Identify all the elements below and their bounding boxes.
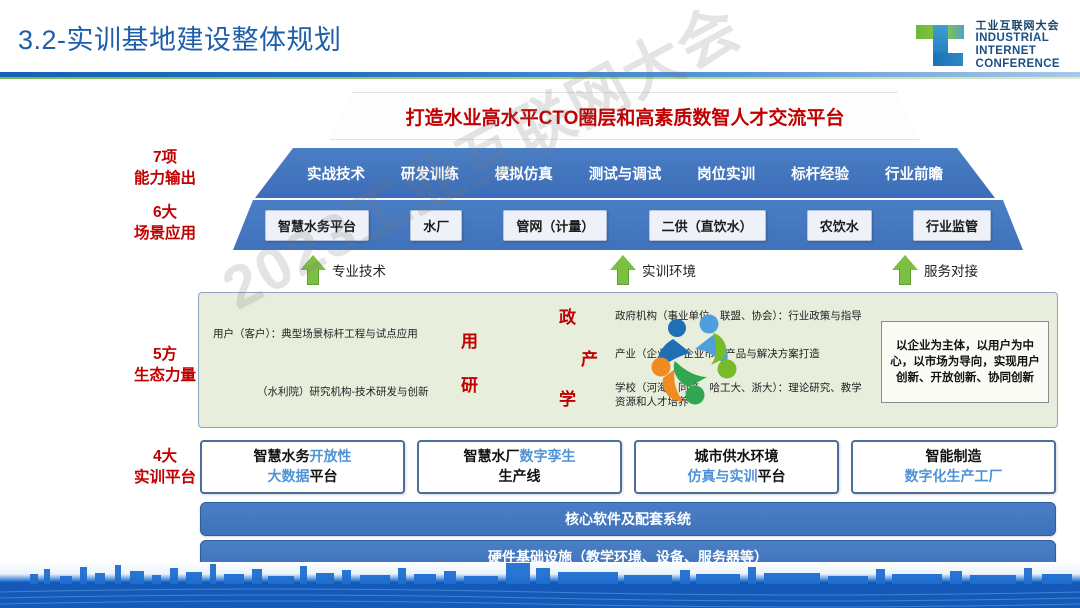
tier-label-6: 6大 场景应用 [95,203,235,245]
capabilities-tier: 实战技术 研发训练 模拟仿真 测试与调试 岗位实训 标杆经验 行业前瞻 [255,148,995,198]
footer-skyline [0,562,1080,608]
skyline-graphic [0,562,1080,608]
conference-logo: 工业互联网大会 INDUSTRIAL INTERNET CONFERENCE [914,20,1060,71]
platform-3-hl1: 仿真与实训 [688,468,758,484]
platform-text-4: 智能制造 数字化生产工厂 [905,447,1003,486]
capability-item: 标杆经验 [791,163,849,184]
platform-1-hl1: 开放性 [310,448,352,464]
tier-label-7-line1: 7项 [95,148,235,169]
eco-text-user: 用户（客户）：典型场景标杆工程与试点应用 [213,327,418,342]
capability-item: 研发训练 [401,163,459,184]
ecosystem-panel: 用户（客户）：典型场景标杆工程与试点应用 （水利院）研究机构-技术研发与创新 政… [198,292,1058,428]
logo-mark-icon [914,21,966,69]
scenario-chip[interactable]: 二供（直饮水） [649,210,766,241]
tier-label-6-line2: 场景应用 [95,224,235,245]
arrow-up-icon [610,255,636,285]
eco-key-chan: 产 [581,345,598,370]
arrow-row: 专业技术 实训环境 服务对接 [0,253,1080,289]
slide-root: 3.2-实训基地建设整体规划 工业互联网大会 INDUSTRIAL INTERN… [0,0,1080,608]
eco-key-zheng: 政 [559,303,576,328]
logo-text: 工业互联网大会 INDUSTRIAL INTERNET CONFERENCE [975,20,1060,71]
five-people-icon [639,307,749,415]
core-software-bar: 核心软件及配套系统 [200,502,1056,536]
header-divider-green [0,77,1080,79]
eco-key-yong: 用 [461,327,478,352]
core-software-label: 核心软件及配套系统 [565,509,691,529]
platform-box-1[interactable]: 智慧水务开放性 大数据平台 [200,440,405,494]
arrow-up-icon [892,255,918,285]
scenario-chip[interactable]: 水厂 [410,210,462,241]
motto-text: 以企业为主体，以用户为中心，以市场为导向，实现用户创新、开放创新、协同创新 [889,338,1041,387]
platform-text-3: 城市供水环境 仿真与实训平台 [688,447,786,486]
arrow-label: 实训环境 [642,260,696,280]
platform-box-3[interactable]: 城市供水环境 仿真与实训平台 [634,440,839,494]
page-title: 3.2-实训基地建设整体规划 [18,18,342,57]
platform-text-1: 智慧水务开放性 大数据平台 [254,447,352,486]
eco-text-research: （水利院）研究机构-技术研发与创新 [257,385,429,400]
tier-label-6-line1: 6大 [95,203,235,224]
platform-2-seg1: 智慧水厂 [464,448,520,464]
platform-1-seg1: 智慧水务 [254,448,310,464]
logo-text-en-2: INTERNET [975,45,1060,58]
platform-2-hl1: 数字孪生 [520,448,576,464]
logo-text-cn: 工业互联网大会 [975,20,1060,32]
arrow-group-2: 实训环境 [610,255,696,285]
platform-2-seg2: 生产线 [499,468,541,484]
platform-box-4[interactable]: 智能制造 数字化生产工厂 [851,440,1056,494]
platform-3-seg2: 平台 [758,468,786,484]
capability-item: 实战技术 [307,163,365,184]
scenario-chip[interactable]: 管网（计量） [503,210,607,241]
arrow-group-1: 专业技术 [300,255,386,285]
arrow-label: 专业技术 [332,260,386,280]
platform-1-hl2: 大数据 [268,468,310,484]
arrow-label: 服务对接 [924,260,978,280]
platform-text-2: 智慧水厂数字孪生 生产线 [464,447,576,486]
scenarios-tier: 智慧水务平台 水厂 管网（计量） 二供（直饮水） 农饮水 行业监管 [233,200,1023,250]
scenario-chip[interactable]: 农饮水 [807,210,872,241]
tier-label-7-line2: 能力输出 [95,169,235,190]
scenario-chip[interactable]: 行业监管 [913,210,991,241]
arrow-group-3: 服务对接 [892,255,978,285]
pyramid-apex-banner: 打造水业高水平CTO圈层和高素质数智人才交流平台 [330,92,920,140]
tier-label-7: 7项 能力输出 [95,148,235,190]
platform-1-seg2: 平台 [310,468,338,484]
logo-text-en-3: CONFERENCE [975,58,1060,71]
capability-item: 行业前瞻 [885,163,943,184]
arrow-up-icon [300,255,326,285]
eco-key-yan: 研 [461,371,478,396]
platform-box-2[interactable]: 智慧水厂数字孪生 生产线 [417,440,622,494]
eco-key-xue: 学 [559,385,576,410]
platform-row: 智慧水务开放性 大数据平台 智慧水厂数字孪生 生产线 城市供水环境 仿真与实训平… [200,440,1056,494]
platform-4-seg1: 智能制造 [926,448,982,464]
capability-item: 测试与调试 [589,163,662,184]
scenario-chip[interactable]: 智慧水务平台 [265,210,369,241]
platform-3-seg1: 城市供水环境 [695,448,779,464]
platform-4-hl1: 数字化生产工厂 [905,468,1003,484]
capability-item: 岗位实训 [697,163,755,184]
logo-text-en-1: INDUSTRIAL [975,32,1060,45]
motto-box: 以企业为主体，以用户为中心，以市场为导向，实现用户创新、开放创新、协同创新 [881,321,1049,403]
banner-title: 打造水业高水平CTO圈层和高素质数智人才交流平台 [406,103,845,130]
capability-item: 模拟仿真 [495,163,553,184]
